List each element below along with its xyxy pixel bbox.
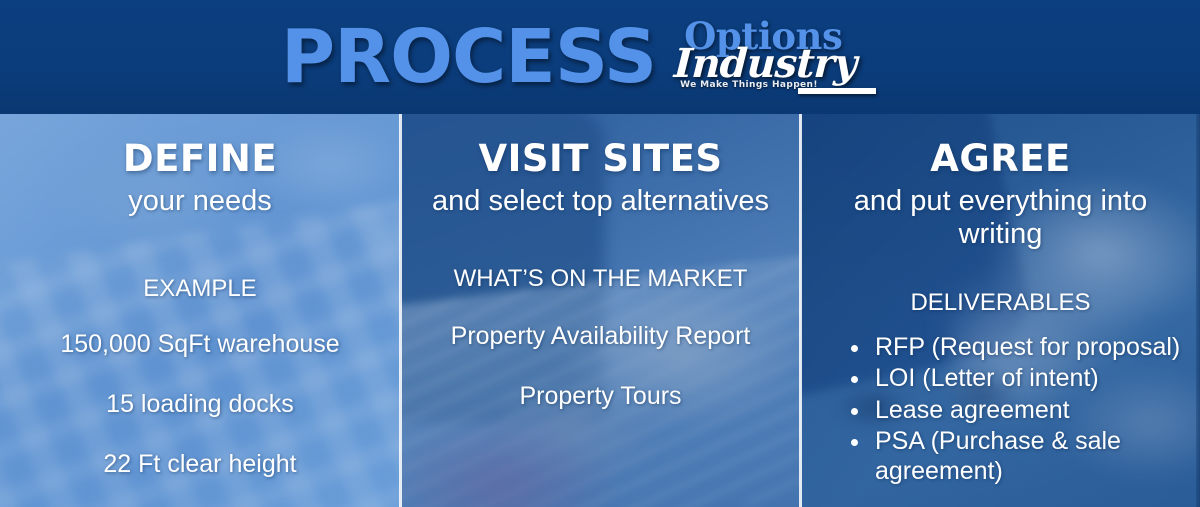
list-item: Lease agreement — [849, 396, 1182, 426]
define-heading: DEFINE — [14, 114, 386, 179]
list-item: PSA (Purchase & sale agreement) — [849, 427, 1182, 486]
header-lockup: PROCESS Options Industry We Make Things … — [281, 16, 883, 98]
column-divider-2 — [799, 114, 802, 507]
column-divider-1 — [399, 114, 402, 507]
company-logo: Options Industry We Make Things Happen! — [668, 18, 883, 98]
header-bar: PROCESS Options Industry We Make Things … — [0, 0, 1200, 114]
process-step-agree: AGREE and put everything into writing DE… — [801, 114, 1200, 507]
visit-sites-content: VISIT SITES and select top alternatives … — [400, 114, 801, 507]
define-line-2: 15 loading docks — [14, 389, 386, 419]
right-edge-shadow — [1196, 114, 1200, 507]
process-step-define: DEFINE your needs EXAMPLE 150,000 SqFt w… — [0, 114, 400, 507]
agree-content: AGREE and put everything into writing DE… — [801, 114, 1200, 507]
process-columns: DEFINE your needs EXAMPLE 150,000 SqFt w… — [0, 114, 1200, 507]
logo-underline-bar — [798, 88, 876, 94]
visit-sites-line-2: Property Tours — [414, 381, 787, 411]
logo-text-industry: Industry — [673, 44, 857, 84]
header-content: PROCESS Options Industry We Make Things … — [0, 0, 1200, 114]
define-subheading: your needs — [14, 185, 386, 218]
list-item: LOI (Letter of intent) — [849, 364, 1182, 394]
agree-section-label: DELIVERABLES — [815, 288, 1186, 317]
define-section-label: EXAMPLE — [14, 274, 386, 303]
page-title: PROCESS — [281, 20, 656, 94]
agree-subheading: and put everything into writing — [815, 185, 1186, 252]
visit-sites-heading: VISIT SITES — [414, 114, 787, 179]
list-item: RFP (Request for proposal) — [849, 333, 1182, 363]
visit-sites-subheading: and select top alternatives — [414, 185, 787, 218]
agree-deliverables-list: RFP (Request for proposal) LOI (Letter o… — [815, 333, 1186, 487]
define-content: DEFINE your needs EXAMPLE 150,000 SqFt w… — [0, 114, 400, 507]
visit-sites-line-1: Property Availability Report — [414, 321, 787, 351]
agree-heading: AGREE — [815, 114, 1186, 179]
define-line-1: 150,000 SqFt warehouse — [14, 329, 386, 359]
visit-sites-section-label: WHAT’S ON THE MARKET — [414, 264, 787, 293]
process-step-visit-sites: VISIT SITES and select top alternatives … — [400, 114, 801, 507]
process-infographic: PROCESS Options Industry We Make Things … — [0, 0, 1200, 507]
define-line-3: 22 Ft clear height — [14, 449, 386, 479]
